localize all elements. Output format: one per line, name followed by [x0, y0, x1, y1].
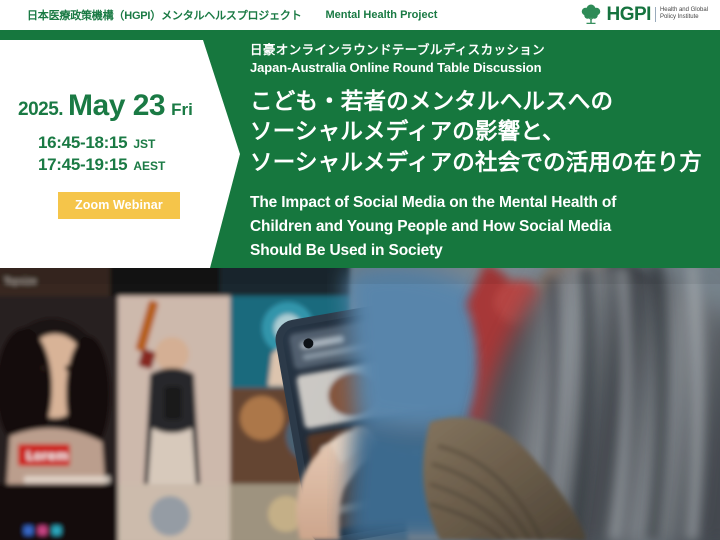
event-time-aest: 17:45-19:15 AEST — [38, 154, 165, 176]
title-jp-line-3: ソーシャルメディアの社会での活用の在り方 — [250, 148, 718, 179]
banner-content: 日豪オンラインラウンドテーブルディスカッション Japan-Australia … — [250, 42, 718, 263]
time-range-aest: 17:45-19:15 — [38, 154, 127, 176]
hgpi-logo: HGPI Health and Global Policy Institute — [579, 2, 709, 26]
event-poster: 日本医療政策機構（HGPI）メンタルヘルスプロジェクト Mental Healt… — [0, 0, 720, 540]
event-time-jst: 16:45-18:15 JST — [38, 132, 165, 154]
time-range-jst: 16:45-18:15 — [38, 132, 127, 154]
event-day-of-week: Fri — [171, 100, 193, 120]
event-title-jp: こども・若者のメンタルヘルスへの ソーシャルメディアの影響と、 ソーシャルメディ… — [250, 87, 718, 179]
title-en-line-2: Children and Young People and How Social… — [250, 215, 718, 239]
logo-wordmark: HGPI — [607, 5, 651, 24]
event-date: 2025. May 23 Fri — [18, 89, 193, 123]
event-title-en: The Impact of Social Media on the Mental… — [250, 191, 718, 263]
event-month-day: May 23 — [68, 89, 165, 123]
tree-icon — [579, 2, 603, 26]
title-jp-line-1: こども・若者のメンタルヘルスへの — [250, 87, 718, 118]
logo-tagline-line2: Policy Institute — [660, 14, 699, 20]
timezone-aest: AEST — [133, 159, 165, 174]
logo-tagline: Health and Global Policy Institute — [655, 7, 708, 22]
organization-name-jp: 日本医療政策機構（HGPI）メンタルヘルスプロジェクト — [27, 7, 302, 23]
event-year: 2025. — [18, 99, 63, 121]
title-en-line-3: Should Be Used in Society — [250, 239, 718, 263]
page-header: 日本医療政策機構（HGPI）メンタルヘルスプロジェクト Mental Healt… — [0, 0, 720, 30]
event-times: 16:45-18:15 JST 17:45-19:15 AEST — [38, 132, 165, 176]
project-name-en: Mental Health Project — [326, 9, 438, 21]
title-banner: 2025. May 23 Fri 16:45-18:15 JST 17:45-1… — [0, 30, 720, 268]
timezone-jst: JST — [133, 137, 155, 152]
event-details-panel: 2025. May 23 Fri 16:45-18:15 JST 17:45-1… — [0, 40, 240, 268]
title-en-line-1: The Impact of Social Media on the Mental… — [250, 191, 718, 215]
hero-photo: Topsize Lorem — [0, 268, 720, 540]
title-jp-line-2: ソーシャルメディアの影響と、 — [250, 117, 718, 148]
event-kicker-jp: 日豪オンラインラウンドテーブルディスカッション — [250, 42, 718, 58]
zoom-webinar-button[interactable]: Zoom Webinar — [58, 192, 180, 219]
event-kicker-en: Japan-Australia Online Round Table Discu… — [250, 59, 718, 77]
logo-tagline-line1: Health and Global — [660, 7, 708, 13]
